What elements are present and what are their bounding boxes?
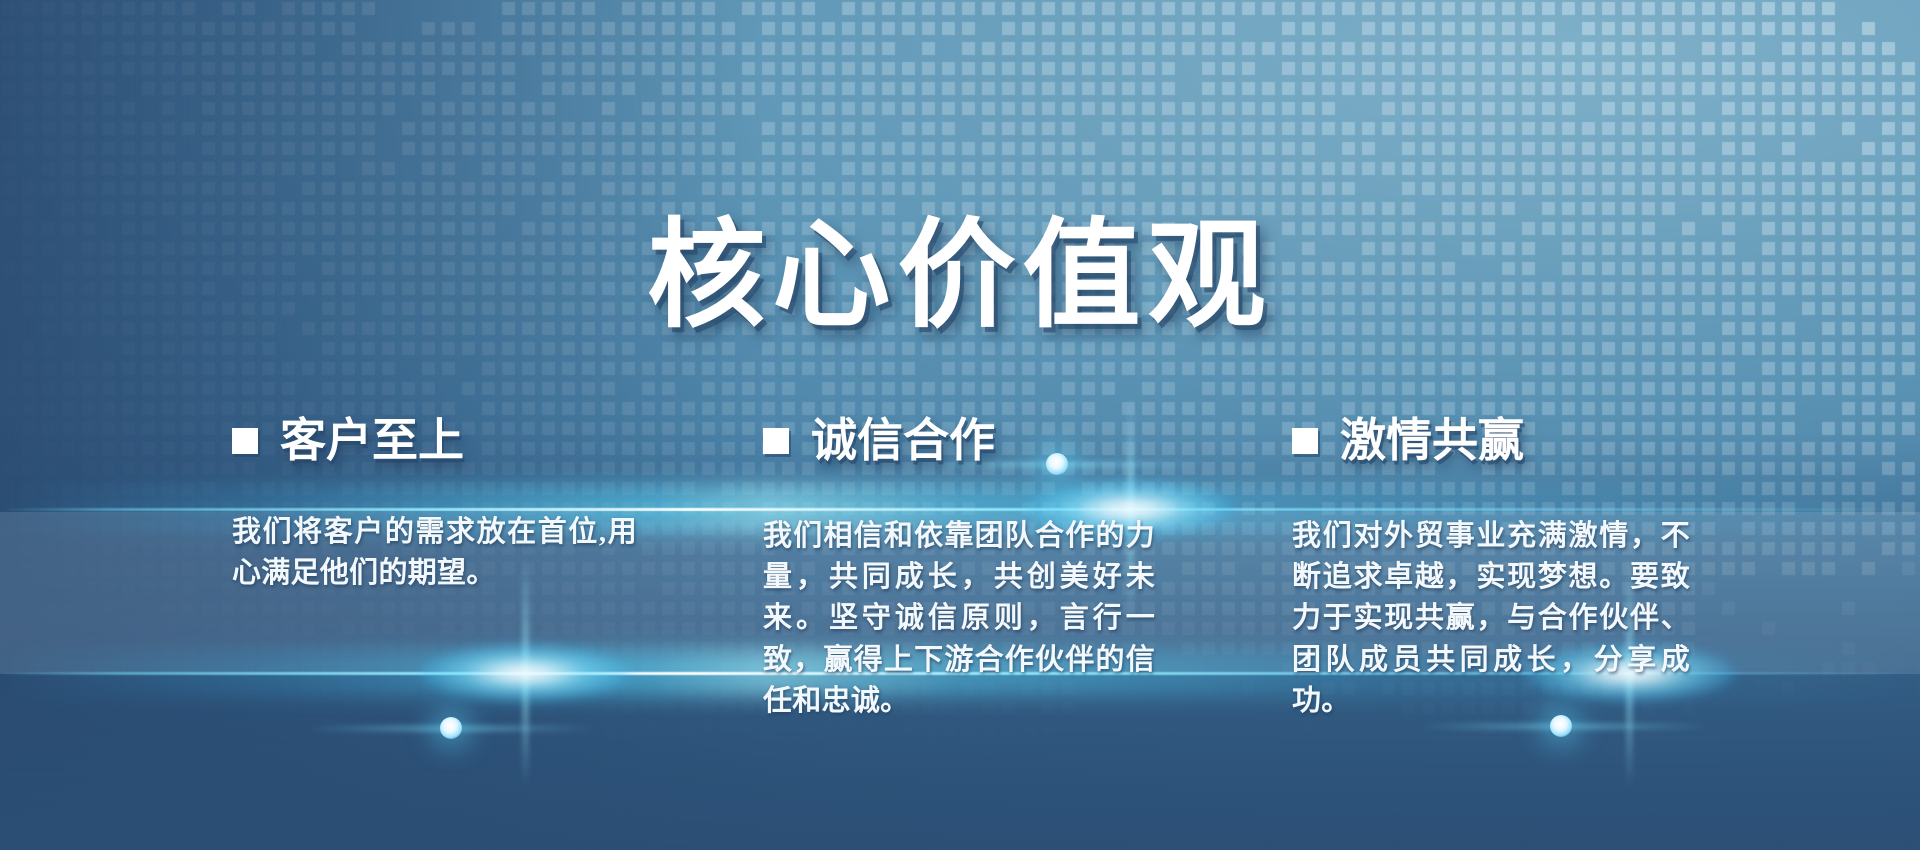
poster-stage: 核心价值观 客户至上 我们将客户的需求放在首位,用心满足他们的期望。 诚信合作 …	[0, 0, 1920, 850]
value-body-2: 我们相信和依靠团队合作的力量，共同成长，共创美好未来。坚守诚信原则，言行一致，赢…	[763, 516, 1155, 722]
value-heading-label: 诚信合作	[811, 418, 995, 464]
value-body-1: 我们将客户的需求放在首位,用心满足他们的期望。	[232, 512, 637, 594]
value-heading-label: 激情共赢	[1340, 418, 1524, 464]
value-column-1: 客户至上 我们将客户的需求放在首位,用心满足他们的期望。	[232, 418, 662, 594]
square-bullet-icon	[763, 428, 789, 454]
value-body-3: 我们对外贸事业充满激情，不断追求卓越，实现梦想。要致力于实现共赢，与合作伙伴、团…	[1292, 516, 1690, 722]
square-bullet-icon	[1292, 428, 1318, 454]
square-bullet-icon	[232, 428, 258, 454]
value-column-3: 激情共赢 我们对外贸事业充满激情，不断追求卓越，实现梦想。要致力于实现共赢，与合…	[1292, 418, 1712, 722]
value-heading-label: 客户至上	[280, 418, 464, 464]
page-title: 核心价值观	[0, 218, 1920, 336]
value-column-2: 诚信合作 我们相信和依靠团队合作的力量，共同成长，共创美好未来。坚守诚信原则，言…	[763, 418, 1183, 722]
value-heading-2: 诚信合作	[763, 418, 1183, 464]
value-heading-3: 激情共赢	[1292, 418, 1712, 464]
value-heading-1: 客户至上	[232, 418, 662, 464]
